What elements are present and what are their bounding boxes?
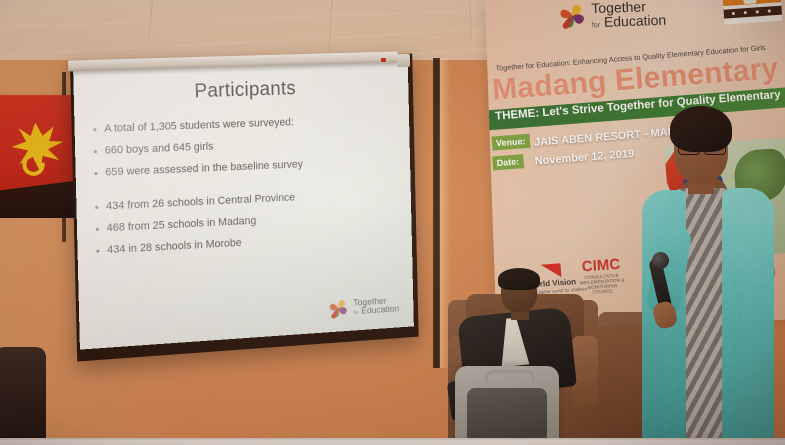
- floor-strip: [0, 438, 785, 445]
- screen-roller-indicator: [381, 58, 386, 62]
- floor-speaker: [455, 366, 559, 445]
- slide-logo-line2: for Education: [353, 305, 399, 317]
- eyeglasses-icon: [678, 140, 726, 153]
- chair-left: [0, 347, 46, 445]
- slide-bullet: A total of 1,305 students were surveyed:: [90, 112, 395, 136]
- presentation-scene: Together for Education Together for Educ…: [0, 0, 785, 445]
- banner-together-for-education-logo: Together for Education: [557, 0, 666, 31]
- slide-logo-line2-text: Education: [361, 304, 399, 317]
- slide-logo-sup: for: [353, 310, 358, 316]
- banner-logo-line2: for Education: [592, 13, 667, 30]
- slide-content: Participants A total of 1,305 students w…: [73, 56, 414, 350]
- presenter-cardigan-right: [722, 188, 774, 443]
- wall-pillar: [433, 58, 440, 368]
- banner-logo-sup: for: [592, 22, 600, 29]
- slide-bullet: 659 were assessed in the baseline survey: [91, 154, 396, 180]
- screen-roller-end-cap: [397, 54, 410, 67]
- slide-bullet-list: A total of 1,305 students were surveyed:…: [90, 112, 397, 258]
- banner-date-label: Date:: [492, 154, 523, 170]
- bird-of-paradise-icon: [5, 115, 77, 184]
- banner-venue-label: Venue:: [491, 134, 529, 151]
- banner-logo-line2-text: Education: [604, 12, 667, 30]
- together-for-education-mark-icon: [328, 296, 350, 320]
- presenter-woman: [628, 106, 785, 445]
- projection-screen: Participants A total of 1,305 students w…: [73, 56, 414, 350]
- slide-bullet: 660 boys and 645 girls: [91, 133, 396, 158]
- banner-flag-emblem: [722, 0, 782, 25]
- slide-title: Participants: [89, 75, 394, 106]
- sponsor-1-tagline: CONSULTATIVE IMPLEMENTATION & MONITORING…: [579, 272, 626, 295]
- banner-date-value: November 12, 2019: [534, 148, 634, 168]
- slide-together-for-education-logo: Together for Education: [328, 293, 400, 321]
- together-for-education-mark-icon: [557, 0, 588, 31]
